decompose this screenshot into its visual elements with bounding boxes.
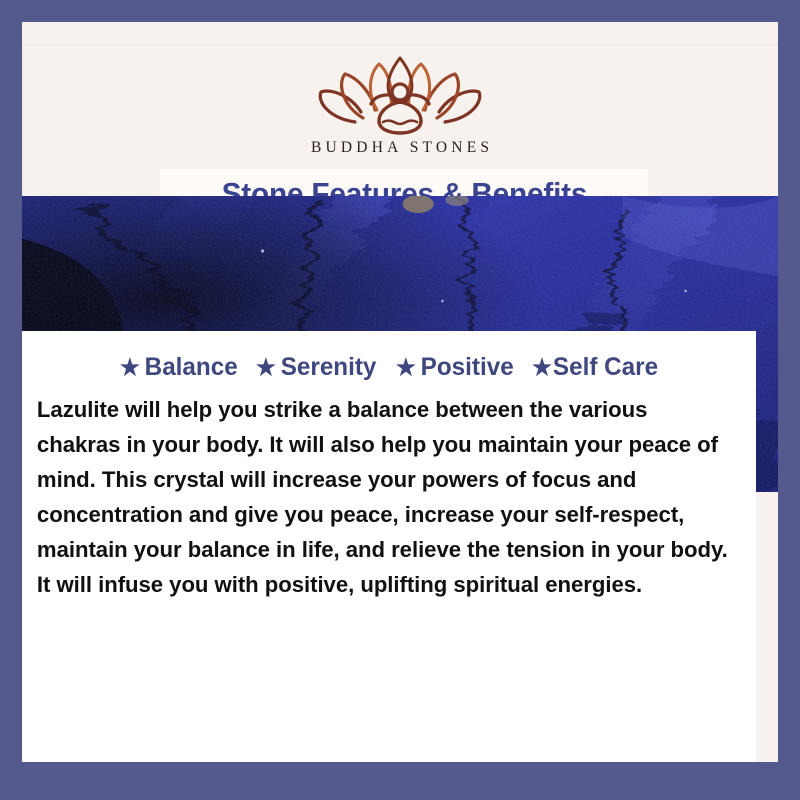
content-panel: ★ Balance ★ Serenity ★ Positive ★ Self C… [22,331,756,762]
keyword-label: Positive [420,353,513,382]
keyword-list: ★ Balance ★ Serenity ★ Positive ★ Self C… [32,353,746,382]
keyword-self-care: ★ Self Care [532,353,658,382]
star-icon: ★ [532,356,552,379]
star-icon: ★ [256,356,276,379]
keyword-label: Serenity [281,353,377,382]
keyword-serenity: ★ Serenity [256,353,377,382]
stone-description: Lazulite will help you strike a balance … [32,392,735,602]
keyword-label: Self Care [553,353,658,382]
frame-bottom-band [0,762,600,800]
frame-top-band [215,0,800,22]
brand-logo: BUDDHA STONES [22,44,778,174]
star-icon: ★ [120,356,140,379]
keyword-balance: ★ Balance [120,353,238,382]
decorative-frame: BUDDHA STONES Stone Features & Benefits [0,0,800,800]
lotus-meditation-figure-icon [315,52,485,137]
star-icon: ★ [395,356,415,379]
brand-wordmark: BUDDHA STONES [307,139,493,157]
content-card: BUDDHA STONES Stone Features & Benefits [0,22,778,762]
keyword-label: Balance [145,353,238,382]
keyword-positive: ★ Positive [395,353,513,382]
frame-left-rail [0,22,22,762]
